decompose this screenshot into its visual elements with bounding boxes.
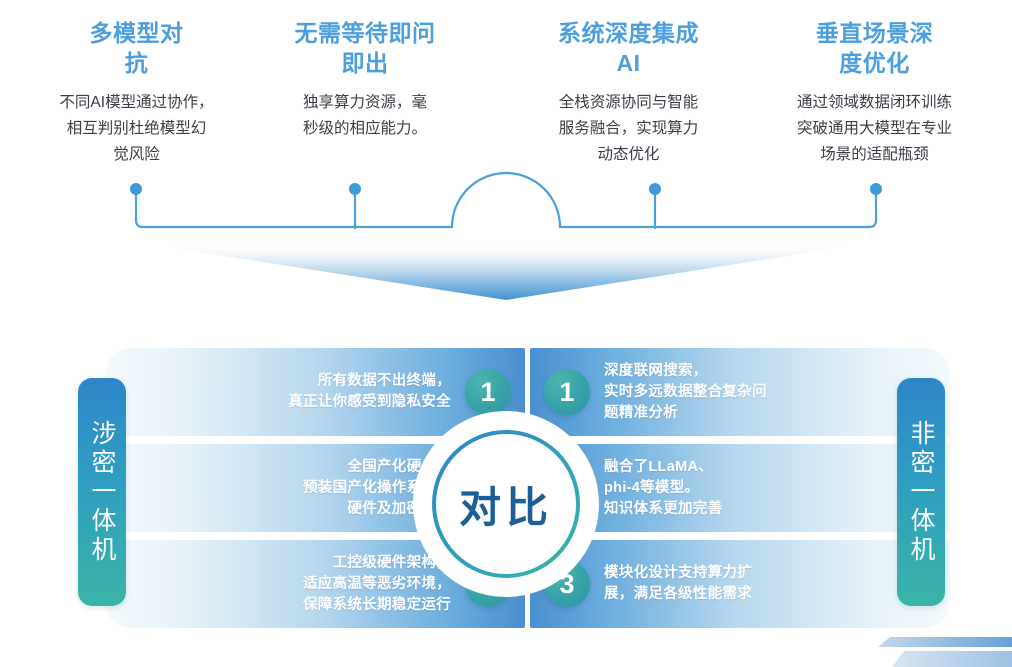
feature-title: 系统深度集成 AI	[516, 18, 741, 78]
side-tab-classified[interactable]: 涉密一体机	[78, 378, 126, 606]
list-item[interactable]: 2 融合了LLaMA、 phi-4等模型。 知识体系更加完善	[530, 444, 950, 532]
funnel-svg	[0, 240, 1012, 315]
row-text: 模块化设计支持算力扩 展，满足各级性能需求	[604, 563, 752, 605]
feature-card-3: 系统深度集成 AI 全栈资源协同与智能 服务融合，实现算力 动态优化	[516, 18, 741, 168]
center-badge: 对比	[426, 424, 586, 584]
connector-dot-1	[130, 183, 142, 195]
corner-accent-bottom-right	[832, 625, 1012, 667]
connector-dot-4	[870, 183, 882, 195]
bracket-connector	[0, 170, 1012, 250]
connector-dot-2	[349, 183, 361, 195]
row-number-badge: 1	[465, 369, 511, 415]
row-number-badge: 1	[544, 369, 590, 415]
bracket-svg	[0, 170, 1012, 250]
corner-accent-svg	[832, 625, 1012, 667]
feature-description: 不同AI模型通过协作， 相互判别杜绝模型幻 觉风险	[14, 90, 259, 168]
unclassified-rows: 1 深度联网搜索， 实时多远数据整合复杂问 题精准分析 2 融合了LLaMA、 …	[530, 348, 950, 633]
list-item[interactable]: 1 深度联网搜索， 实时多远数据整合复杂问 题精准分析	[530, 348, 950, 436]
connector-dot-3	[649, 183, 661, 195]
funnel-triangle	[148, 244, 864, 300]
feature-title: 垂直场景深 度优化	[762, 18, 987, 78]
feature-description: 全栈资源协同与智能 服务融合，实现算力 动态优化	[516, 90, 741, 168]
list-item[interactable]: 所有数据不出终端， 真正让你感受到隐私安全 1	[105, 348, 525, 436]
row-text: 深度联网搜索， 实时多远数据整合复杂问 题精准分析	[604, 361, 767, 424]
corner-accent-stripe-2	[892, 651, 1012, 667]
infographic-canvas: 多模型对 抗 不同AI模型通过协作， 相互判别杜绝模型幻 觉风险 无需等待即问 …	[0, 0, 1012, 667]
row-text: 所有数据不出终端， 真正让你感受到隐私安全	[288, 371, 451, 413]
list-item[interactable]: 3 模块化设计支持算力扩 展，满足各级性能需求	[530, 540, 950, 628]
feature-title: 无需等待即问 即出	[256, 18, 474, 78]
feature-card-2: 无需等待即问 即出 独享算力资源，毫 秒级的相应能力。	[256, 18, 474, 142]
panel-unclassified: 1 深度联网搜索， 实时多远数据整合复杂问 题精准分析 2 融合了LLaMA、 …	[530, 348, 950, 633]
feature-description: 通过领域数据闭环训练 突破通用大模型在专业 场景的适配瓶颈	[762, 90, 987, 168]
center-label: 对比	[426, 424, 586, 584]
corner-accent-stripe-1	[878, 637, 1012, 647]
funnel-shape	[0, 240, 1012, 315]
bracket-rail-path	[136, 173, 876, 227]
row-text: 融合了LLaMA、 phi-4等模型。 知识体系更加完善	[604, 457, 722, 520]
feature-card-1: 多模型对 抗 不同AI模型通过协作， 相互判别杜绝模型幻 觉风险	[14, 18, 259, 168]
comparison-section: 所有数据不出终端， 真正让你感受到隐私安全 1 全国产化硬件， 预装国产化操作系…	[0, 348, 1012, 638]
feature-title: 多模型对 抗	[14, 18, 259, 78]
features-section: 多模型对 抗 不同AI模型通过协作， 相互判别杜绝模型幻 觉风险 无需等待即问 …	[0, 0, 1012, 180]
feature-description: 独享算力资源，毫 秒级的相应能力。	[256, 90, 474, 142]
side-tab-unclassified[interactable]: 非密一体机	[897, 378, 945, 606]
feature-card-4: 垂直场景深 度优化 通过领域数据闭环训练 突破通用大模型在专业 场景的适配瓶颈	[762, 18, 987, 168]
